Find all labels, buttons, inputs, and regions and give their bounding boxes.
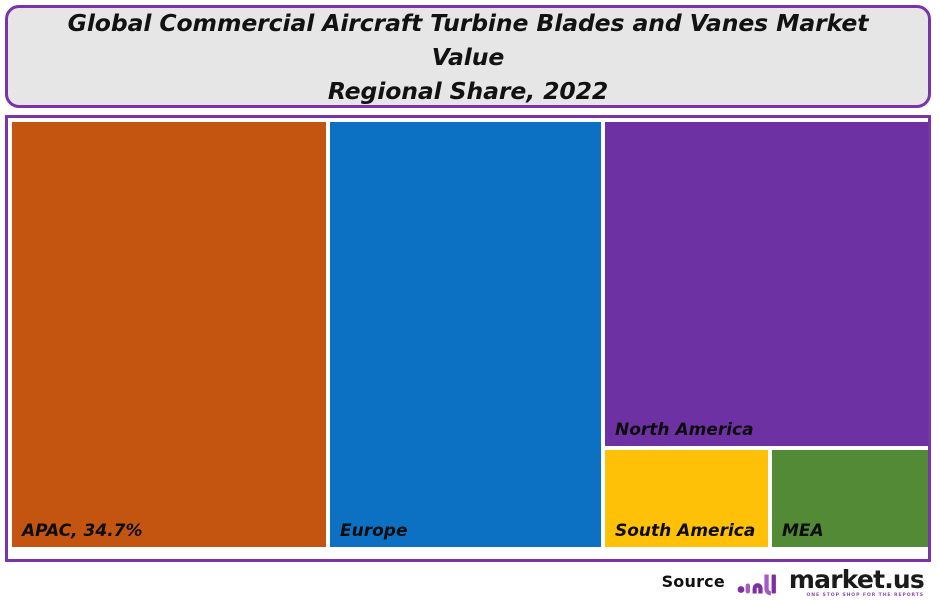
treemap-tile-mea[interactable]: MEA — [772, 450, 928, 547]
treemap-tile-label-apac: APAC, 34.7% — [22, 521, 143, 541]
source-label: Source — [662, 572, 725, 591]
treemap-tile-apac[interactable]: APAC, 34.7% — [12, 122, 326, 547]
treemap-tile-europe[interactable]: Europe — [330, 122, 601, 547]
market-us-bars-icon — [737, 569, 783, 599]
treemap-tile-label-europe: Europe — [340, 521, 407, 541]
page-title: Global Commercial Aircraft Turbine Blade… — [34, 6, 902, 108]
market-us-wordmark: market.us — [789, 567, 924, 592]
chart-page: Global Commercial Aircraft Turbine Blade… — [0, 0, 940, 601]
chart-footer: Source market.us ONE STOP SHOP FOR THE R… — [0, 562, 940, 601]
treemap-tile-south-america[interactable]: South America — [605, 450, 768, 547]
treemap-tile-label-south-america: South America — [615, 521, 755, 541]
treemap-tile-label-north-america: North America — [615, 420, 754, 440]
treemap-tile-label-mea: MEA — [782, 521, 824, 541]
treemap-chart: APAC, 34.7% Europe North America South A… — [12, 122, 928, 547]
market-us-tagline: ONE STOP SHOP FOR THE REPORTS — [789, 594, 924, 599]
treemap-tile-north-america[interactable]: North America — [605, 122, 928, 446]
chart-title-box: Global Commercial Aircraft Turbine Blade… — [5, 5, 931, 108]
market-us-logo[interactable]: market.us ONE STOP SHOP FOR THE REPORTS — [737, 565, 924, 599]
